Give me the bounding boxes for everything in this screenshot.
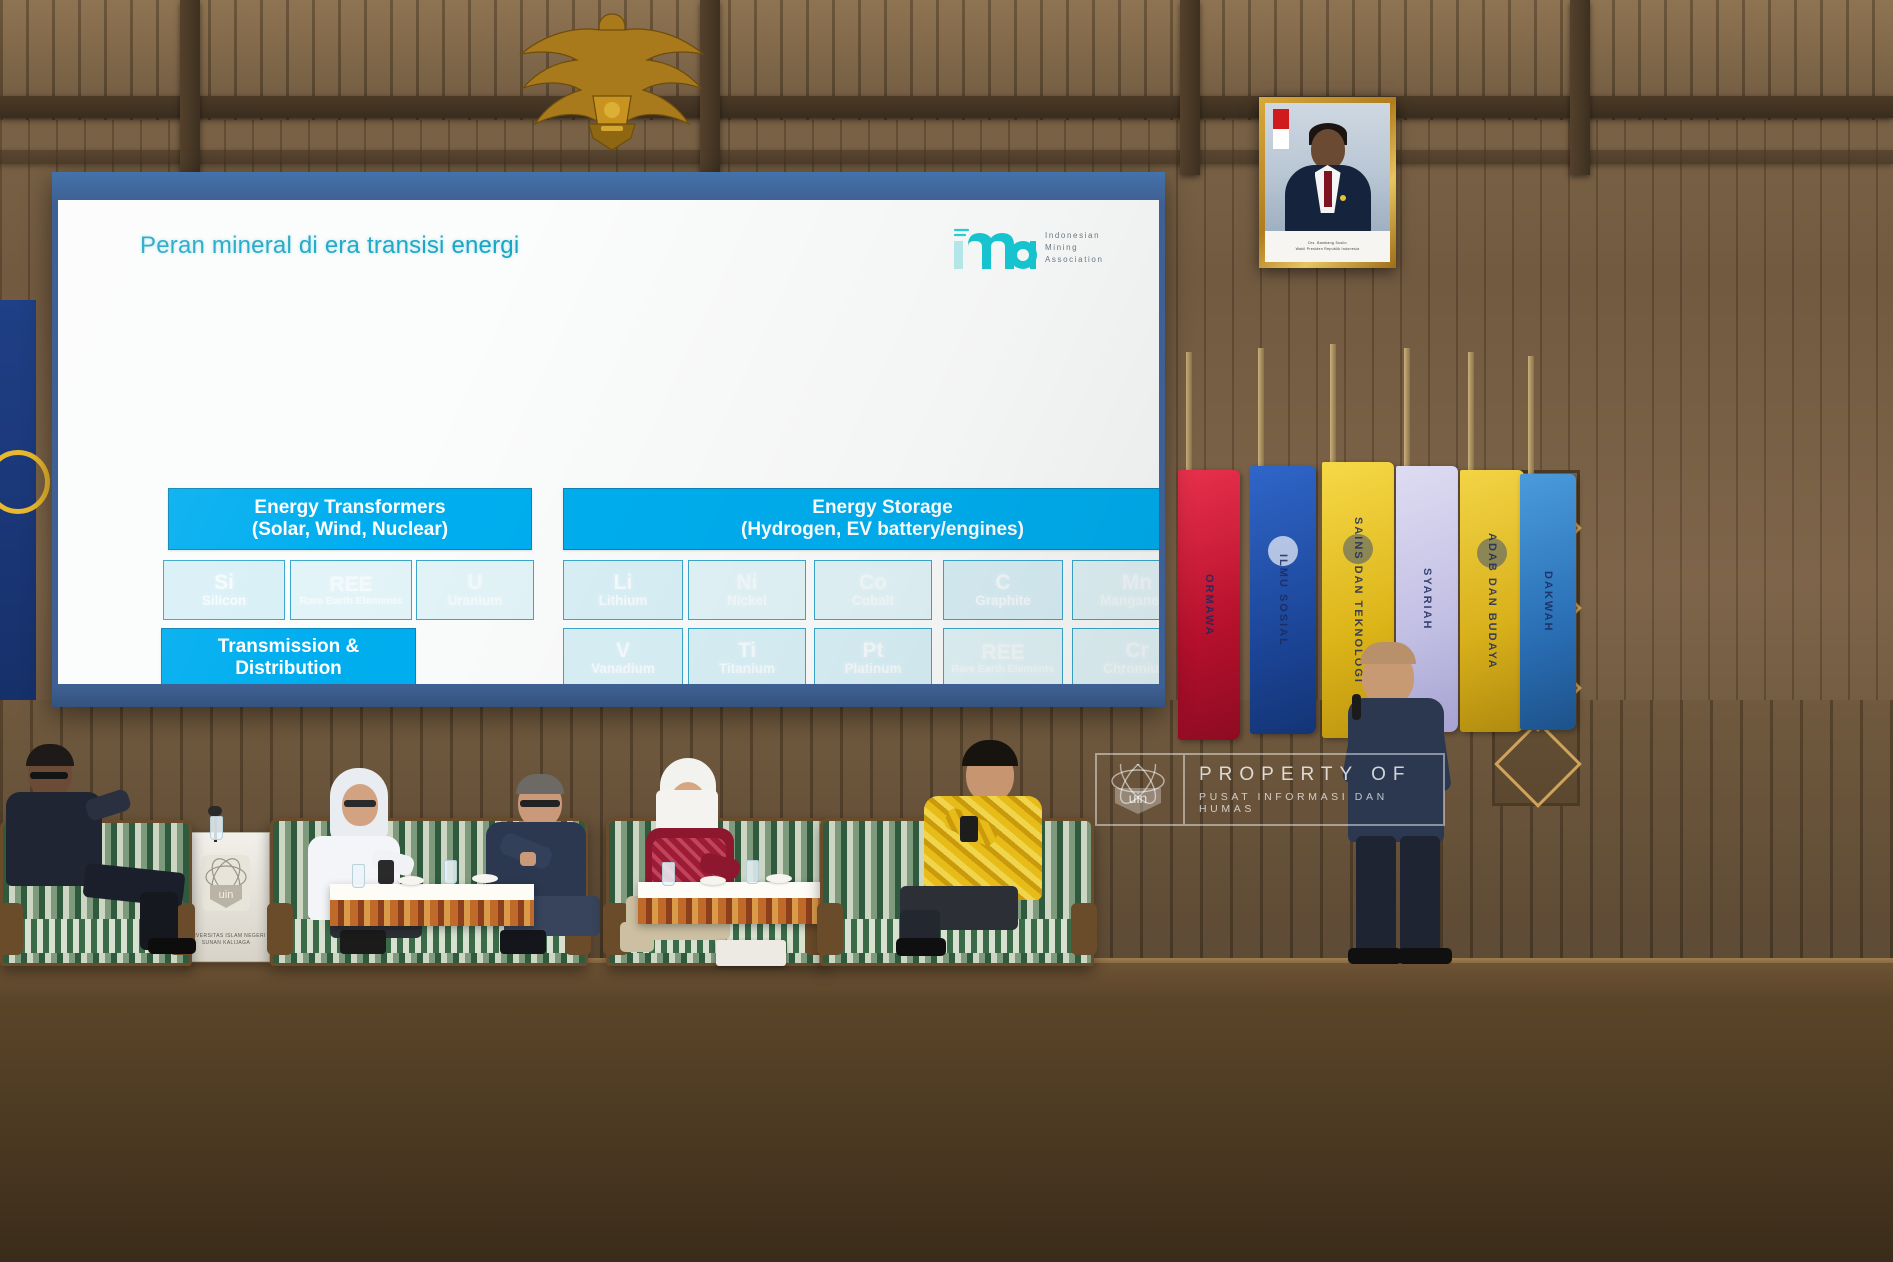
wall-post-left [180, 0, 200, 175]
podium-mic-head [208, 806, 222, 816]
screen-top-frame [52, 172, 1165, 202]
floor-bag [716, 940, 786, 966]
header-energy-transformers-line1: Energy Transformers [254, 497, 445, 519]
header-energy-transformers-line2: (Solar, Wind, Nuclear) [252, 519, 448, 541]
drinking-glass [444, 860, 457, 884]
watermark: uin PROPERTY OF PUSAT INFORMASI DAN HUMA… [1095, 753, 1445, 826]
element-tile-cr: Cr Chromium [1072, 628, 1159, 684]
header-energy-storage: Energy Storage (Hydrogen, EV battery/eng… [563, 488, 1159, 550]
drinking-glass [210, 816, 223, 840]
uin-watermark-logo: uin [1107, 764, 1169, 816]
element-name: Manganese [1100, 594, 1159, 609]
element-tile-ti: Ti Titanium [688, 628, 806, 684]
element-symbol: REE [981, 641, 1024, 664]
element-name: Cobalt [852, 594, 894, 609]
header-transmission-distribution: Transmission & Distribution [161, 628, 416, 684]
plate [472, 874, 498, 883]
element-symbol: Mn [1122, 571, 1152, 594]
conference-hall-scene: Drs. Bambang Susilo Wakil Presiden Repub… [0, 0, 1893, 1262]
element-symbol: Si [214, 571, 234, 594]
element-name: Platinum [844, 662, 901, 677]
header-energy-storage-line2: (Hydrogen, EV battery/engines) [741, 519, 1024, 541]
left-banner [0, 300, 36, 700]
element-tile-v: V Vanadium [563, 628, 683, 684]
podium-logo: uin [202, 855, 250, 911]
stage-floor [0, 963, 1893, 1262]
ima-logo-line1: Indonesian [1045, 231, 1104, 241]
element-name: Nickel [727, 594, 767, 609]
element-symbol: U [467, 571, 482, 594]
header-energy-storage-line1: Energy Storage [812, 497, 952, 519]
element-tile-co: Co Cobalt [814, 560, 932, 620]
element-tile-u: U Uranium [416, 560, 534, 620]
element-tile-si: Si Silicon [163, 560, 285, 620]
element-name: Titanium [719, 662, 775, 677]
element-tile-li: Li Lithium [563, 560, 683, 620]
portrait-caption-line2: Wakil Presiden Republik Indonesia [1296, 247, 1360, 252]
element-symbol: C [995, 571, 1010, 594]
element-tile-c: C Graphite [943, 560, 1063, 620]
uin-watermark-text: uin [1129, 790, 1148, 806]
drinking-glass [662, 862, 675, 886]
ima-logo: Indonesian Mining Association [951, 222, 1131, 274]
flag-item: ADAB DAN BUDAYA [1460, 470, 1524, 732]
wall-trim-beam [0, 150, 1893, 164]
element-tile-ree-2: REE Rare Earth Elements [943, 628, 1063, 684]
element-name: Rare Earth Elements [952, 664, 1055, 676]
side-table [330, 884, 534, 926]
element-name: Graphite [975, 594, 1031, 609]
element-name: Rare Earth Elements [300, 596, 403, 608]
presentation-slide: Peran mineral di era transisi energi [58, 200, 1159, 684]
header-transmission-line2: Distribution [235, 658, 342, 680]
header-transmission-line1: Transmission & [218, 636, 360, 658]
element-symbol: REE [329, 573, 372, 596]
watermark-line1: PROPERTY OF [1199, 764, 1433, 786]
element-symbol: Ni [737, 571, 758, 594]
element-tile-ree-1: REE Rare Earth Elements [290, 560, 412, 620]
element-name: Lithium [599, 594, 648, 609]
element-symbol: Cr [1125, 639, 1148, 662]
plate [398, 876, 424, 885]
flag-label: DAKWAH [1520, 474, 1576, 730]
element-symbol: Co [859, 571, 887, 594]
element-tile-pt: Pt Platinum [814, 628, 932, 684]
flag-label: ILMU SOSIAL [1250, 466, 1316, 734]
watermark-line2: PUSAT INFORMASI DAN HUMAS [1199, 791, 1433, 815]
flag-label: ADAB DAN BUDAYA [1460, 470, 1524, 732]
element-name: Chromium [1103, 662, 1159, 677]
flag-label: ORMAWA [1178, 470, 1240, 740]
element-tile-ni: Ni Nickel [688, 560, 806, 620]
element-symbol: Li [614, 571, 633, 594]
flag-item: DAKWAH [1520, 474, 1576, 730]
ima-logo-line3: Association [1045, 255, 1104, 265]
header-energy-transformers: Energy Transformers (Solar, Wind, Nuclea… [168, 488, 532, 550]
side-table [638, 882, 838, 924]
portrait-photo [1265, 103, 1390, 231]
ima-logo-mark [951, 225, 1037, 271]
garuda-pancasila-emblem [505, 0, 720, 160]
element-name: Uranium [448, 594, 503, 609]
element-symbol: V [616, 639, 630, 662]
ceiling-beam [0, 96, 1893, 118]
projection-screen: Peran mineral di era transisi energi [52, 172, 1165, 707]
ima-logo-line2: Mining [1045, 243, 1104, 253]
element-symbol: Ti [738, 639, 756, 662]
plate [700, 876, 726, 885]
president-portrait-frame: Drs. Bambang Susilo Wakil Presiden Repub… [1259, 97, 1396, 268]
portrait-caption: Drs. Bambang Susilo Wakil Presiden Repub… [1265, 231, 1390, 262]
drinking-glass [746, 860, 759, 884]
flag-item: ILMU SOSIAL [1250, 466, 1316, 734]
element-name: Silicon [202, 594, 246, 609]
svg-text:uin: uin [219, 889, 234, 901]
drinking-glass [352, 864, 365, 888]
element-tile-mn: Mn Manganese [1072, 560, 1159, 620]
element-name: Vanadium [591, 662, 655, 677]
handheld-microphone [1352, 694, 1361, 720]
plate [766, 874, 792, 883]
wall-post-far-right [1570, 0, 1590, 175]
slide-title: Peran mineral di era transisi energi [140, 232, 519, 260]
element-symbol: Pt [863, 639, 884, 662]
wall-post-right [1180, 0, 1200, 175]
flag-item: ORMAWA [1178, 470, 1240, 740]
screen-bottom-frame [52, 685, 1165, 707]
watermark-divider [1183, 755, 1185, 824]
